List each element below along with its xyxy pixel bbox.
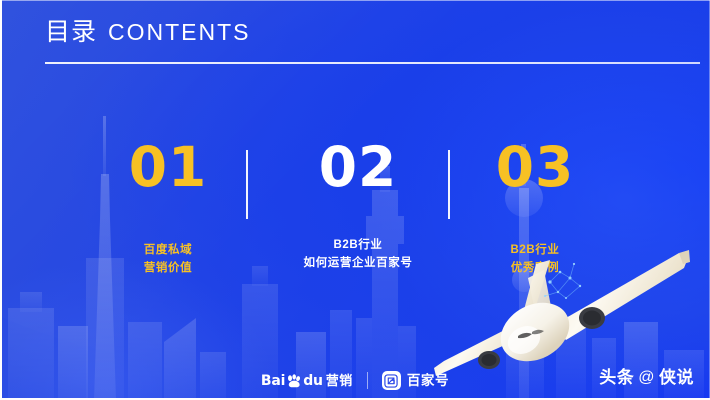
baijiahao-logo[interactable]: 百家号: [382, 371, 449, 390]
baijiahao-app-icon: [382, 371, 401, 390]
item-label-02-line1: B2B行业: [304, 237, 413, 255]
bear-paw-icon: [286, 374, 302, 388]
item-label-02-line2: 如何运营企业百家号: [304, 255, 413, 273]
watermark-handle: 侠说: [659, 369, 694, 386]
item-label-02: B2B行业 如何运营企业百家号: [304, 237, 413, 273]
baidu-logo-suffix: 营销: [326, 374, 353, 387]
watermark: 头条 @ 侠说: [599, 369, 694, 386]
slide-edge-top: [0, 0, 710, 1]
item-label-01-line2: 营销价值: [144, 260, 192, 278]
watermark-brand: 头条: [599, 369, 634, 386]
header-divider-rule: [45, 62, 700, 64]
baidu-marketing-logo[interactable]: Bai du 营销: [261, 374, 353, 388]
watermark-at-symbol: @: [638, 370, 655, 386]
item-number-02: 02: [319, 140, 398, 195]
page-title-cn: 目录: [45, 20, 97, 45]
baidu-logo-bai: Bai: [261, 374, 285, 388]
column-divider-1: [246, 150, 248, 219]
baidu-logo-du: du: [303, 374, 323, 388]
contents-item-02[interactable]: 02 B2B行业 如何运营企业百家号: [268, 140, 448, 273]
contents-item-03[interactable]: 03 B2B行业 优秀案例: [470, 140, 600, 278]
logo-separator: [367, 372, 368, 389]
logo-group: Bai du 营销: [261, 371, 449, 390]
slide-edge-left: [0, 0, 2, 400]
item-number-03: 03: [496, 140, 575, 195]
item-label-01-line1: 百度私域: [144, 242, 192, 260]
item-number-01: 01: [129, 140, 208, 195]
page-title-en: CONTENTS: [108, 21, 251, 44]
item-label-03-line2: 优秀案例: [510, 260, 559, 278]
contents-list: 01 百度私域 营销价值 02 B2B行业 如何运营企业百家号 03 B2B行业…: [0, 140, 710, 290]
item-label-03: B2B行业 优秀案例: [510, 242, 559, 278]
item-label-01: 百度私域 营销价值: [144, 242, 192, 278]
item-label-03-line1: B2B行业: [510, 242, 559, 260]
slide-header: 目录 CONTENTS: [45, 20, 251, 45]
column-divider-2: [448, 150, 450, 219]
baijiahao-label: 百家号: [407, 374, 449, 388]
contents-item-01[interactable]: 01 百度私域 营销价值: [98, 140, 238, 278]
presentation-slide: 目录 CONTENTS 01 百度私域 营销价值 02 B2B行业 如何运营企业…: [0, 0, 710, 400]
